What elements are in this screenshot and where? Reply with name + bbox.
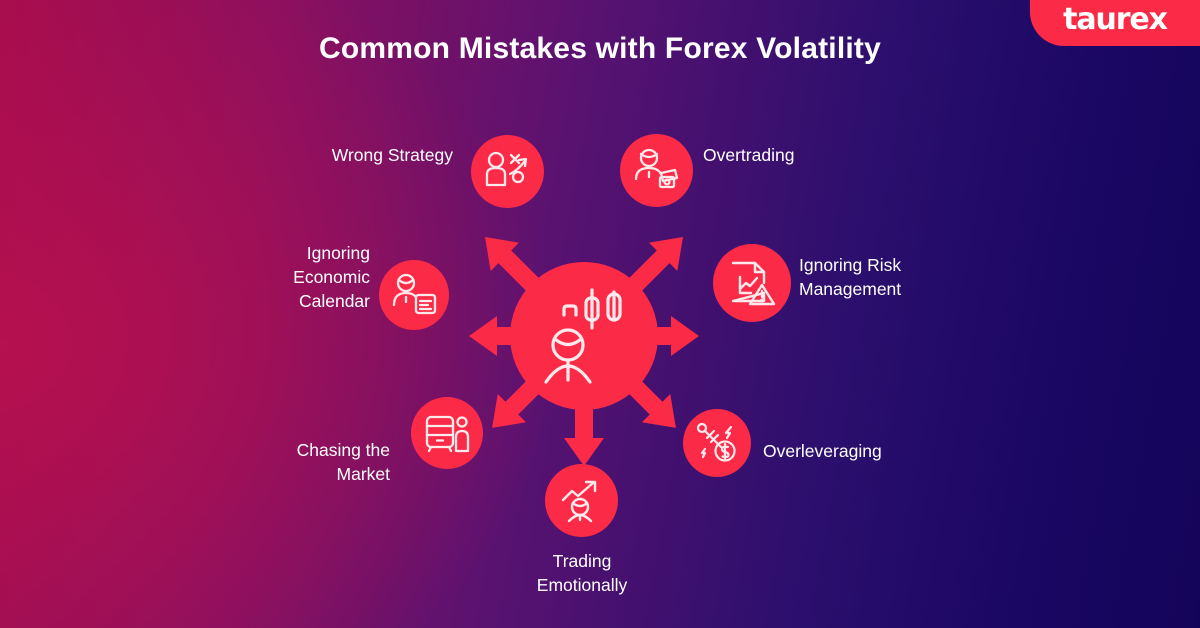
hub-circle[interactable]: [510, 262, 658, 410]
node-ignoring-risk-management-bubble[interactable]: [713, 244, 791, 322]
node-chasing-the-market-label: Chasing the Market: [125, 438, 390, 486]
node-overtrading-label: Overtrading: [703, 143, 993, 167]
node-ignoring-risk-management-label: Ignoring Risk Management: [799, 253, 1059, 301]
document-chart-warning-icon: [726, 257, 778, 309]
node-wrong-strategy-label: Wrong Strategy: [163, 143, 453, 167]
lever-dollar-coin-icon: [694, 420, 740, 466]
node-trading-emotionally-label: Trading Emotionally: [452, 549, 712, 597]
node-trading-emotionally-bubble[interactable]: [545, 464, 618, 537]
node-overleveraging-bubble[interactable]: [683, 409, 751, 477]
node-overleveraging-label: Overleveraging: [763, 439, 1043, 463]
trader-with-candlestick-chart-icon: [510, 262, 658, 410]
infographic-canvas: taurex Common Mistakes with Forex Volati…: [0, 0, 1200, 628]
person-rising-arrow-icon: [557, 476, 607, 526]
market-board-person-icon: [422, 408, 472, 458]
node-wrong-strategy-bubble[interactable]: [471, 135, 544, 208]
person-with-calendar-document-icon: [390, 271, 438, 319]
person-with-strategy-plan-icon: [483, 147, 533, 197]
node-overtrading-bubble[interactable]: [620, 134, 693, 207]
node-ignoring-economic-calendar-bubble[interactable]: [379, 260, 449, 330]
node-ignoring-economic-calendar-label: Ignoring Economic Calendar: [105, 241, 370, 313]
person-with-money-cards-icon: [632, 146, 682, 196]
node-chasing-the-market-bubble[interactable]: [411, 397, 483, 469]
